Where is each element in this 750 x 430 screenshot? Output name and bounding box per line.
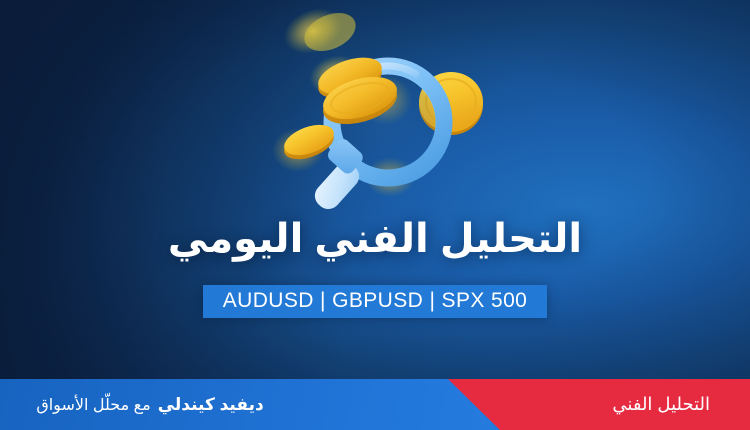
category-label: التحليل الفني (612, 379, 710, 430)
presenter-prefix: مع محلّل الأسواق (36, 395, 150, 415)
headline-container: التحليل الفني اليومي (0, 218, 750, 261)
magnifying-glass-icon (268, 2, 493, 217)
presenter-name: ديفيد كيندلي (158, 395, 264, 415)
instruments-badge: AUDUSD | GBPUSD | SPX 500 (203, 285, 548, 318)
badge-container: AUDUSD | GBPUSD | SPX 500 (0, 285, 750, 318)
presenter-block: ديفيد كيندلي مع محلّل الأسواق (0, 379, 300, 430)
promo-banner: التحليل الفني اليومي AUDUSD | GBPUSD | S… (0, 0, 750, 430)
page-title: التحليل الفني اليومي (168, 218, 582, 261)
footer-bar: ديفيد كيندلي مع محلّل الأسواق التحليل ال… (0, 379, 750, 430)
